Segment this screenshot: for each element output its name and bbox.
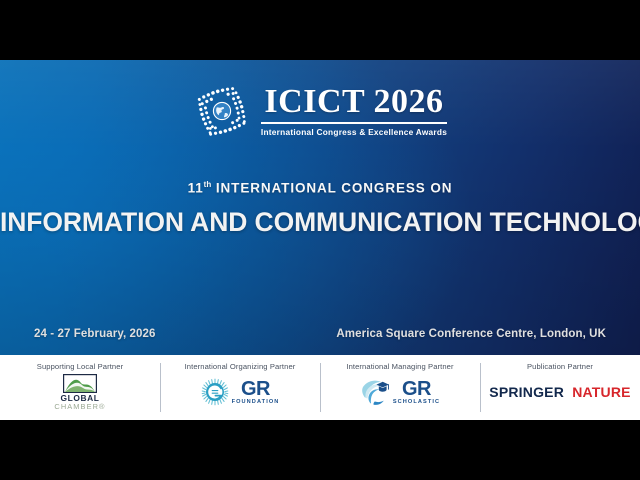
partner-label: International Organizing Partner [185, 362, 296, 371]
partner-label: International Managing Partner [346, 362, 453, 371]
gr-scholastic-swoosh-icon [360, 378, 390, 406]
global-chamber-logo[interactable]: GLOBAL CHAMBER® [54, 375, 105, 409]
partner-strip: Supporting Local Partner GLOBAL CHAMBER®… [0, 355, 640, 420]
icict-logo-lockup: ICICT 2026 International Congress & Exce… [0, 82, 640, 140]
event-dates: 24 - 27 February, 2026 [34, 328, 156, 340]
wordmark-rule [261, 122, 447, 124]
dotted-square-globe-icon [193, 82, 251, 140]
event-info-row: 24 - 27 February, 2026 America Square Co… [0, 328, 640, 340]
partner-cell-publication: Publication Partner SPRINGER NATURE [480, 355, 640, 420]
gr-foundation-name: GR [241, 379, 270, 399]
page-title: INFORMATION AND COMMUNICATION TECHNOLOGY [0, 207, 640, 238]
icict-wordmark-block: ICICT 2026 International Congress & Exce… [261, 85, 447, 137]
slide-stage: ICICT 2026 International Congress & Exce… [0, 0, 640, 480]
gr-scholastic-logo[interactable]: GR SCHOLASTIC [360, 375, 440, 409]
partner-cell-supporting-local: Supporting Local Partner GLOBAL CHAMBER® [0, 355, 160, 420]
partner-cell-managing: International Managing Partner GR SC [320, 355, 480, 420]
letterbox-bar-bottom [0, 420, 640, 480]
partner-label: Publication Partner [527, 362, 593, 371]
letterbox-bar-top [0, 0, 640, 60]
congress-edition-line: 11th INTERNATIONAL CONGRESS ON [0, 180, 640, 196]
global-chamber-sub: CHAMBER® [54, 403, 105, 410]
global-chamber-mark-icon [63, 374, 97, 393]
edition-rest: INTERNATIONAL CONGRESS ON [211, 181, 452, 196]
headline-block: 11th INTERNATIONAL CONGRESS ON INFORMATI… [0, 180, 640, 238]
partner-label: Supporting Local Partner [37, 362, 123, 371]
nature-word: NATURE [572, 384, 631, 400]
gr-foundation-logo[interactable]: GR FOUNDATION [201, 375, 280, 409]
gr-scholastic-sub: SCHOLASTIC [393, 400, 440, 406]
springer-nature-logo[interactable]: SPRINGER NATURE [489, 375, 630, 409]
icict-wordmark: ICICT 2026 [264, 85, 443, 119]
partner-cell-organizing: International Organizing Partner [160, 355, 320, 420]
icict-tagline: International Congress & Excellence Awar… [261, 127, 447, 137]
gr-foundation-sub: FOUNDATION [232, 400, 280, 406]
springer-word: SPRINGER [489, 384, 564, 400]
edition-ordinal: 11 [188, 181, 204, 196]
gr-scholastic-name: GR [402, 379, 431, 399]
conference-banner: ICICT 2026 International Congress & Exce… [0, 60, 640, 355]
gr-foundation-burst-icon [201, 378, 229, 406]
event-venue: America Square Conference Centre, London… [336, 328, 606, 340]
